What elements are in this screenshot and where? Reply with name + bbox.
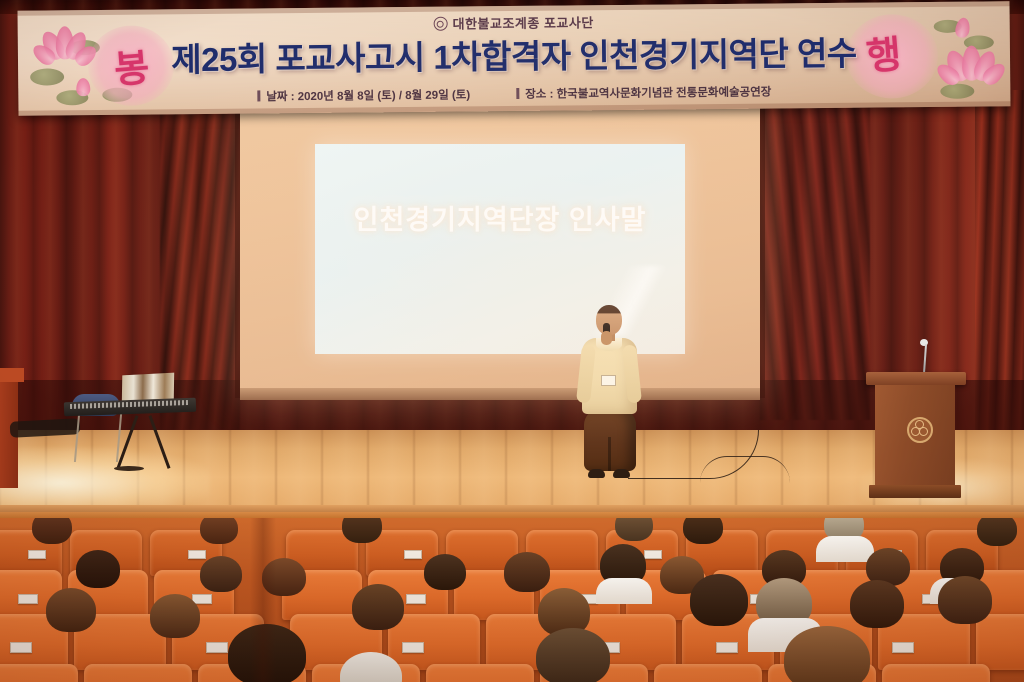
mic-stand-base [114, 466, 144, 471]
audience-shirt [816, 536, 874, 562]
seat-number-tag [406, 594, 426, 604]
slide-title-text: 인천경기지역단장 인사말 [315, 198, 685, 237]
presenter-shoe [588, 469, 605, 478]
screen-frame-left [235, 108, 240, 398]
seat [84, 664, 192, 682]
stage-cable-run [700, 456, 790, 483]
audience-head [615, 518, 653, 541]
audience-shirt [596, 578, 652, 604]
audience-head [150, 594, 200, 638]
seat [654, 664, 762, 682]
audience-head [504, 552, 550, 592]
auditorium-photo: 인천경기지역단장 인사말 봉 행 [0, 0, 1024, 682]
banner-place-text: 장소 : 한국불교역사문화기념관 전통문화예술공연장 [525, 87, 771, 101]
seat-number-tag [10, 642, 32, 653]
keyboard-setup [60, 372, 200, 472]
jogye-order-emblem-icon [434, 17, 448, 31]
keyboard-stand-leg [149, 415, 171, 469]
seat-number-tag [28, 550, 46, 559]
seat-number-tag [206, 642, 228, 653]
audience-head [76, 550, 120, 588]
seat-number-tag [644, 550, 662, 559]
podium [866, 372, 966, 504]
seat-number-tag [402, 642, 424, 653]
seat-number-tag [892, 642, 914, 653]
banner-place: 장소 : 한국불교역사문화기념관 전통문화예술공연장 [516, 84, 771, 102]
audience-head [200, 556, 242, 592]
bullet-mark-icon [516, 88, 519, 99]
side-wooden-stand-top [0, 368, 24, 382]
bullet-mark-icon [257, 90, 260, 101]
audience-head [683, 518, 723, 544]
audience-head [977, 518, 1017, 546]
audience-seating-area [0, 518, 1024, 682]
event-banner: 봉 행 대한불교조계종 포교사단 제25회 포교사고시 1차합격자 인천경기지역… [18, 1, 1011, 116]
seat [976, 614, 1024, 670]
audience-head [342, 518, 382, 543]
seat [426, 664, 534, 682]
three-jewel-emblem-icon [907, 417, 933, 443]
presenter-name-badge [601, 375, 616, 386]
audience-head [46, 588, 96, 632]
presenter-hand [601, 331, 612, 345]
audience-head-foreground [536, 628, 610, 682]
audience-head [200, 518, 238, 544]
podium-top [866, 372, 966, 385]
banner-title-text: 제25회 포교사고시 1차합격자 인천경기지역단 연수 [18, 25, 1010, 83]
screen-bottom-bar [240, 388, 760, 400]
screen-frame-right [760, 108, 765, 398]
seat [0, 664, 78, 682]
seat-number-tag [188, 550, 206, 559]
podium-body [875, 385, 955, 487]
seat-number-tag [18, 594, 38, 604]
audience-head [850, 580, 904, 628]
banner-date: 날짜 : 2020년 8월 8일 (토) / 8월 29일 (토) [257, 86, 470, 104]
seat [882, 664, 990, 682]
banner-date-text: 날짜 : 2020년 8월 8일 (토) / 8월 29일 (토) [266, 89, 470, 103]
center-aisle-shadow [250, 518, 276, 682]
audience-head [352, 584, 404, 630]
audience-head [690, 574, 748, 626]
seat-number-tag [404, 550, 422, 559]
seat-number-tag [716, 642, 738, 653]
audience-head [424, 554, 466, 590]
audience-head [938, 576, 992, 624]
keyboard-chair-legs [74, 414, 122, 462]
podium-base [869, 485, 961, 498]
projection-screen: 인천경기지역단장 인사말 [240, 108, 760, 398]
curtain-right-panel [760, 100, 870, 420]
audience-head [32, 518, 72, 544]
